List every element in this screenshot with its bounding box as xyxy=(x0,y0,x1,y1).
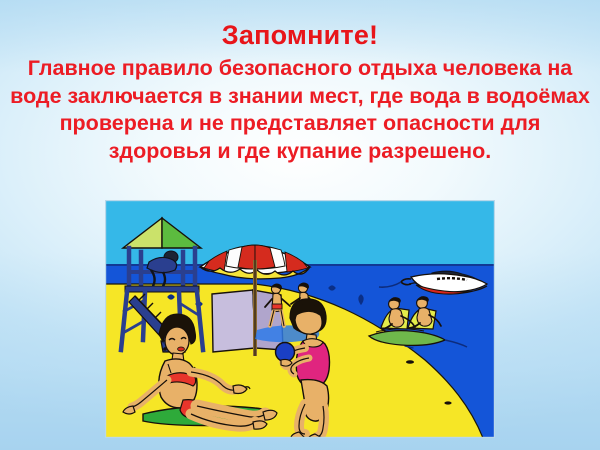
slide-canvas: Запомните! Главное правило безопасного о… xyxy=(0,0,600,450)
text-block: Запомните! Главное правило безопасного о… xyxy=(0,18,600,165)
body-text: Главное правило безопасного отдыха челов… xyxy=(6,55,594,165)
beach-illustration xyxy=(105,200,495,438)
page-title: Запомните! xyxy=(6,18,594,52)
